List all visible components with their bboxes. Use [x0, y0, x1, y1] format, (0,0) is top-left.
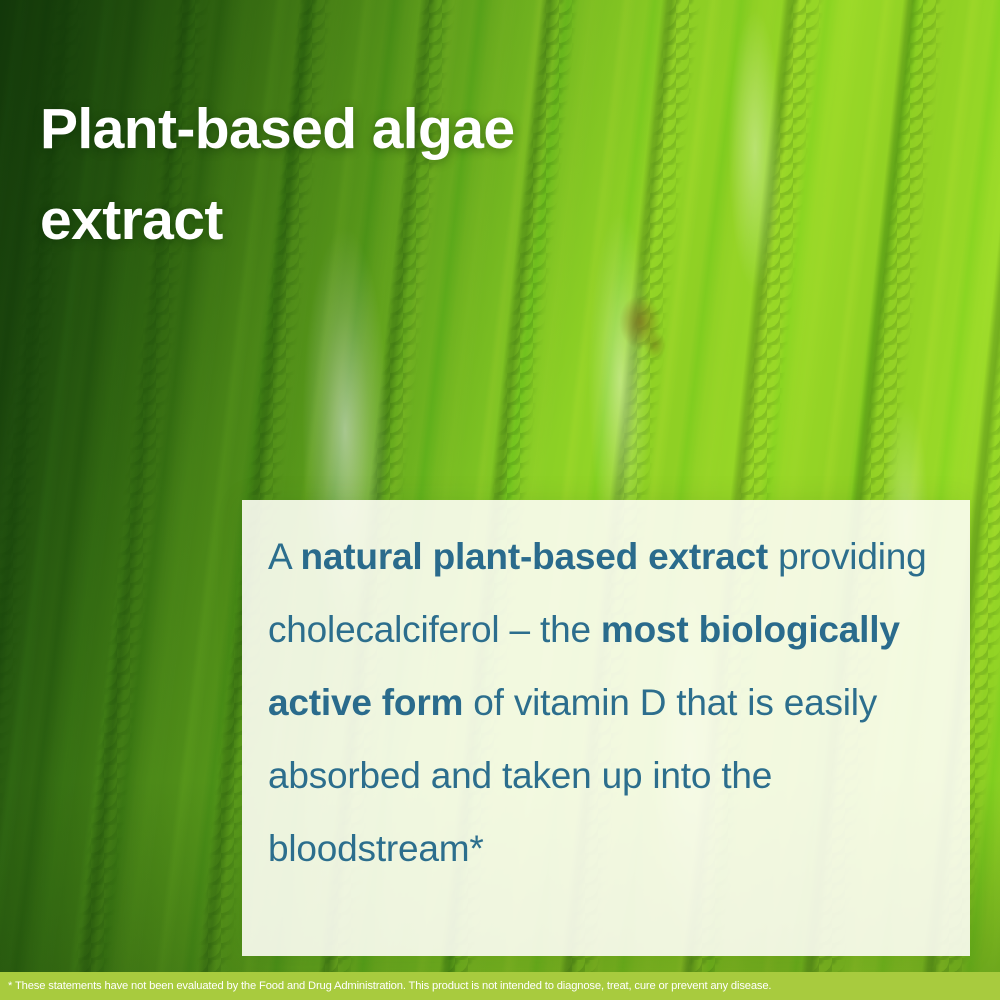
disclaimer-bar: * These statements have not been evaluat… — [0, 972, 1000, 1000]
description-text: A natural plant-based extract providing … — [268, 520, 950, 885]
text-segment-1-bold: natural plant-based extract — [301, 536, 769, 577]
text-segment-0: A — [268, 536, 301, 577]
description-card: A natural plant-based extract providing … — [242, 500, 970, 956]
page-title: Plant-based algae extract — [40, 84, 680, 266]
promotional-graphic: Plant-based algae extract A natural plan… — [0, 0, 1000, 1000]
disclaimer-text: * These statements have not been evaluat… — [0, 972, 771, 1000]
